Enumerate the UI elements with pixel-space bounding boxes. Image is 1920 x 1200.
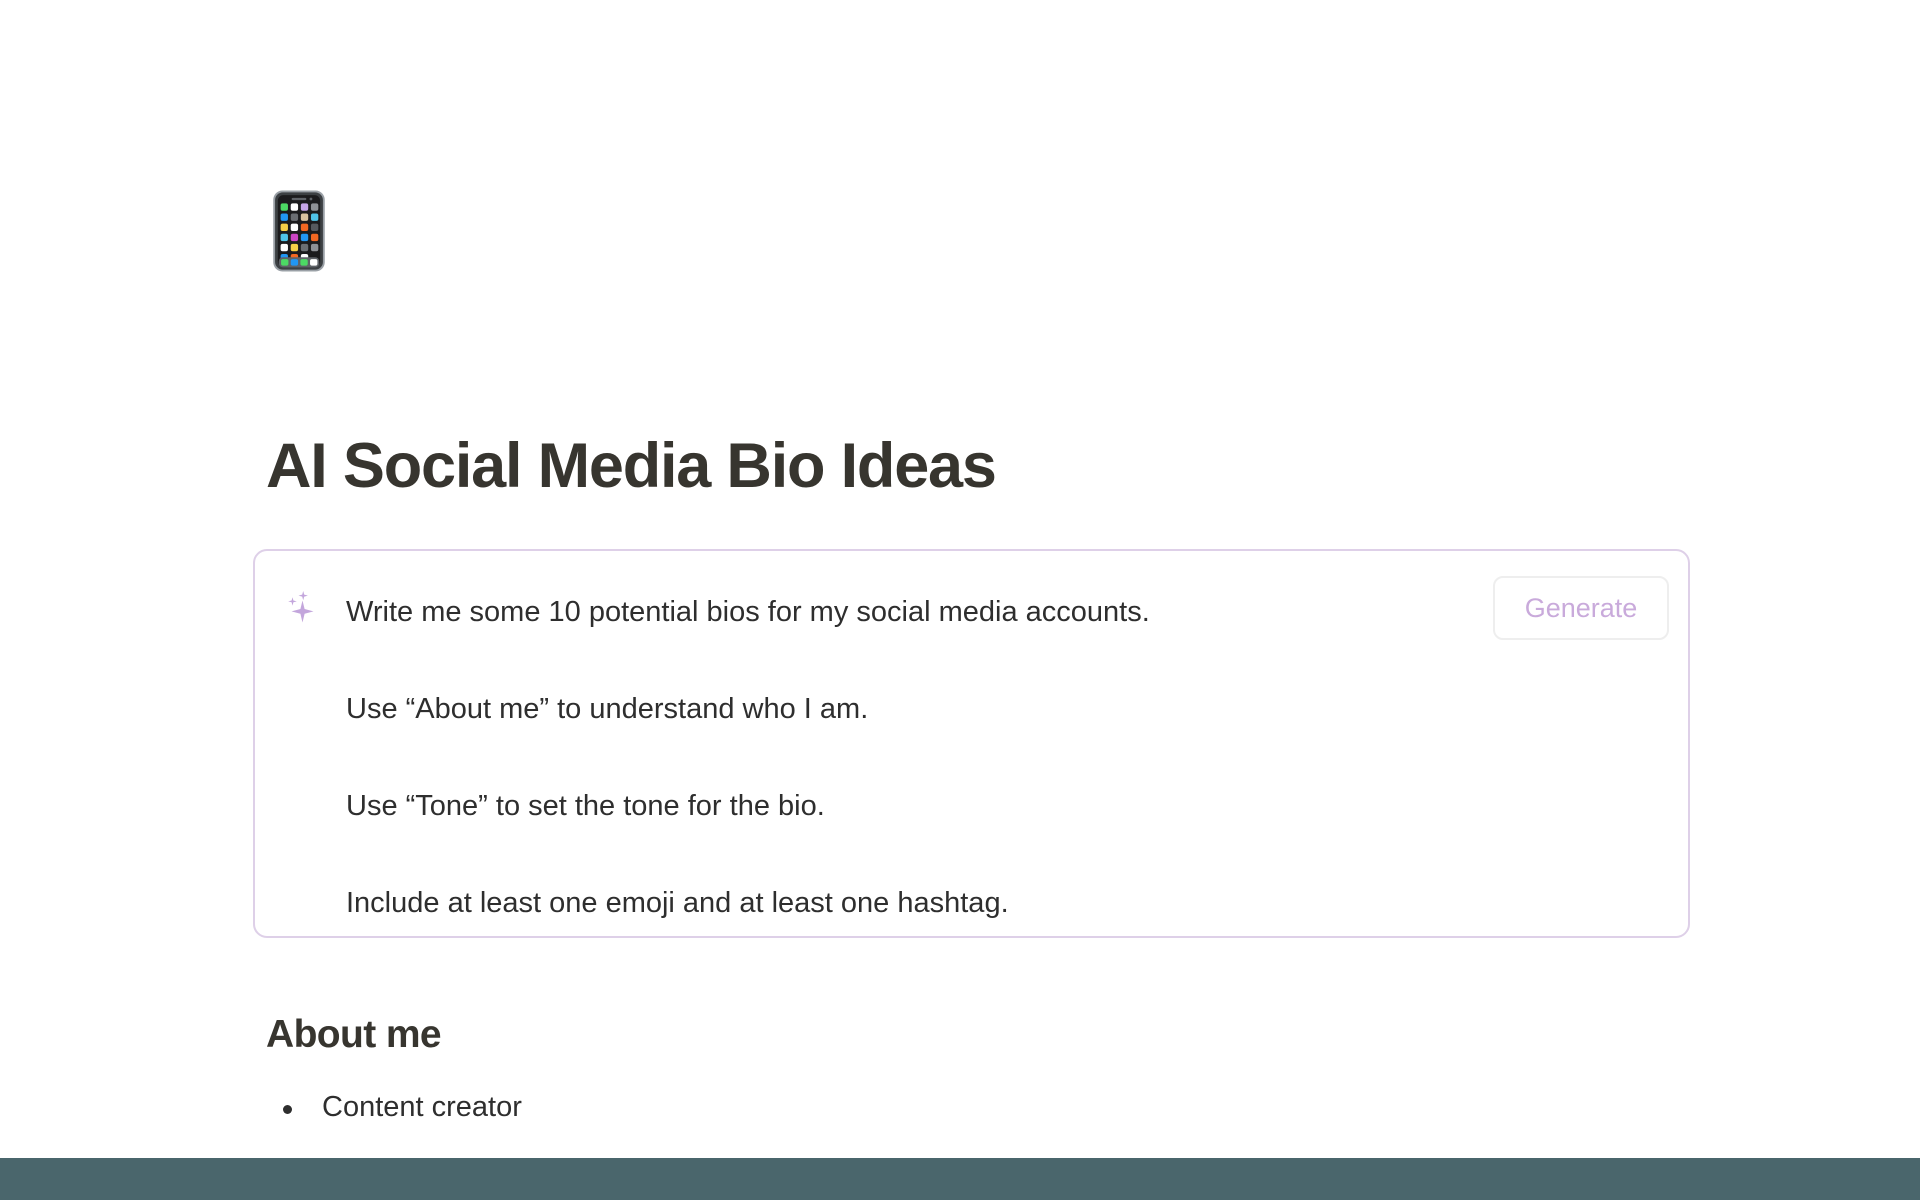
list-item[interactable]: Content creator: [266, 1088, 1466, 1127]
prompt-line-1[interactable]: Write me some 10 potential bios for my s…: [346, 594, 1150, 632]
page-root: AI Social Media Bio Ideas Generate Write…: [0, 0, 1920, 1200]
prompt-line-2[interactable]: Use “About me” to understand who I am.: [346, 691, 868, 729]
generate-button[interactable]: Generate: [1493, 576, 1669, 640]
bottom-bar: [0, 1158, 1920, 1200]
page-title: AI Social Media Bio Ideas: [266, 432, 996, 501]
section-heading-about-me: About me: [266, 1012, 441, 1059]
prompt-line-4[interactable]: Include at least one emoji and at least …: [346, 885, 1009, 923]
sparkle-icon: [282, 589, 316, 623]
mobile-phone-emoji[interactable]: [253, 185, 345, 277]
prompt-card[interactable]: Generate Write me some 10 potential bios…: [253, 549, 1690, 938]
prompt-line-3[interactable]: Use “Tone” to set the tone for the bio.: [346, 788, 825, 826]
